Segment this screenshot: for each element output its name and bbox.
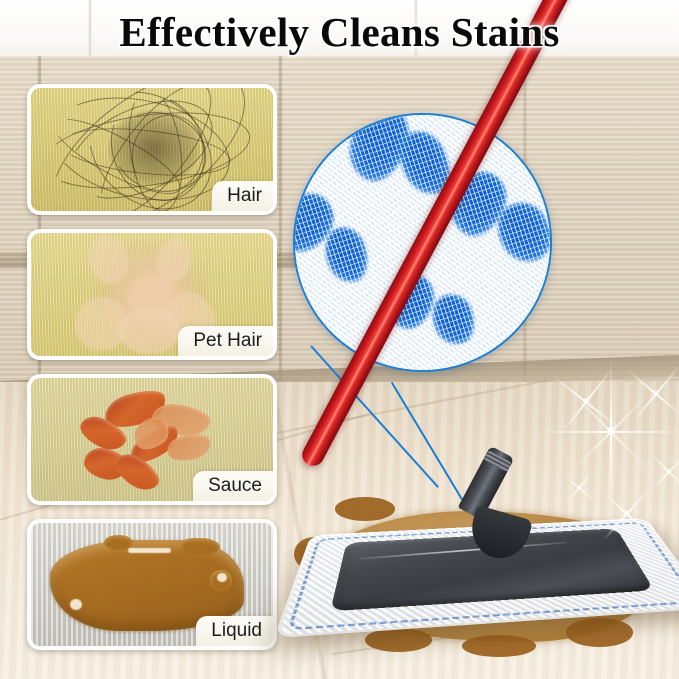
stain-panel-pet-hair: Pet Hair xyxy=(27,229,277,360)
stain-panel-hair: Hair xyxy=(27,84,277,215)
panel-label-tag: Sauce xyxy=(193,471,273,501)
panel-label-tag: Hair xyxy=(212,181,273,211)
stain-panel-liquid: Liquid xyxy=(27,519,277,650)
headline-text: Effectively Cleans Stains xyxy=(0,9,679,55)
stain-panel-sauce: Sauce xyxy=(27,374,277,505)
panel-label-tag: Pet Hair xyxy=(178,326,273,356)
panel-label-tag: Liquid xyxy=(196,616,273,646)
product-marketing-image: Effectively Cleans Stains Hair xyxy=(0,0,679,679)
